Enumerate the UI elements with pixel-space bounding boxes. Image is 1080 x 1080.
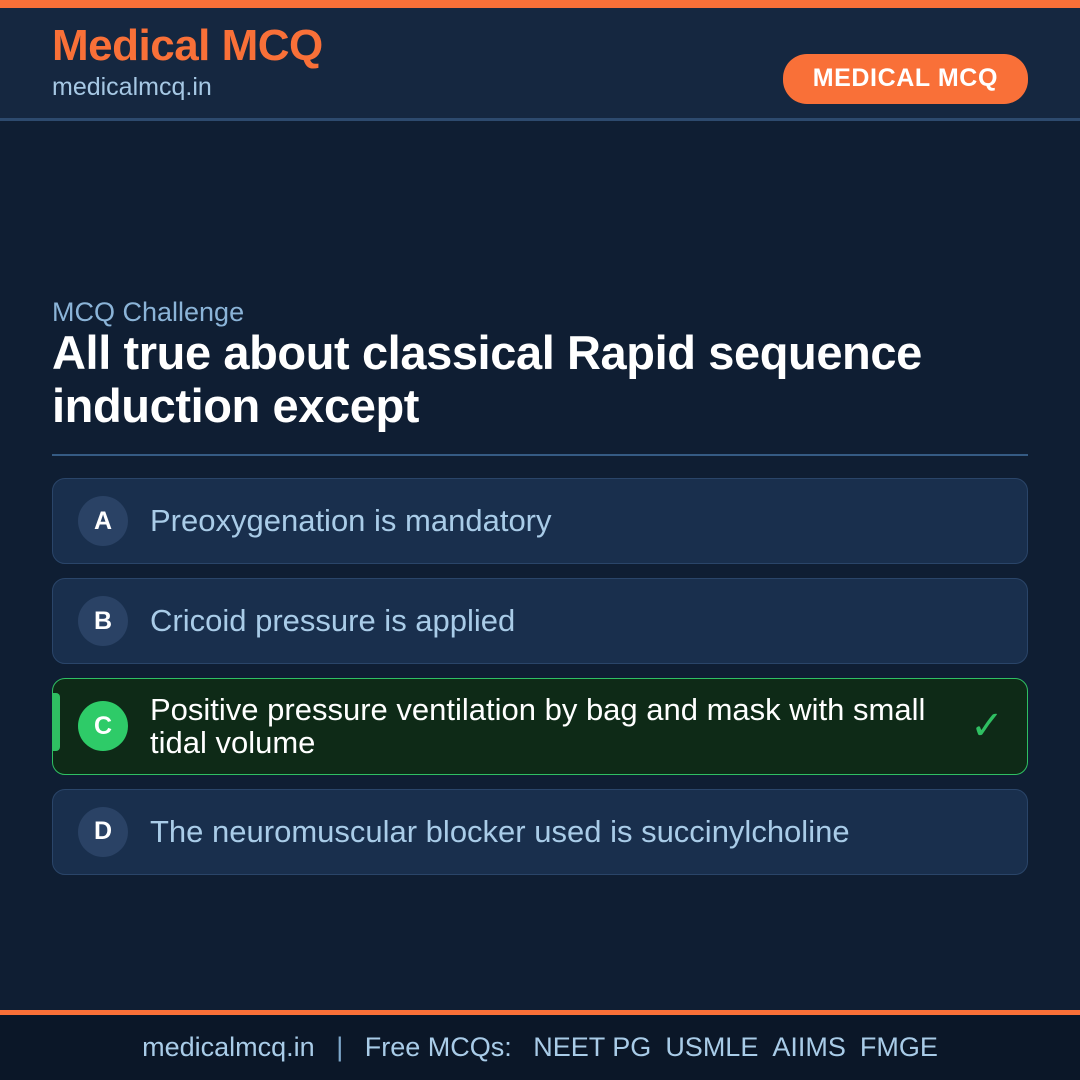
option-text: Cricoid pressure is applied — [150, 590, 965, 651]
option-letter-badge: B — [78, 596, 128, 646]
option-a[interactable]: APreoxygenation is mandatory — [52, 478, 1028, 564]
option-b[interactable]: BCricoid pressure is applied — [52, 578, 1028, 664]
page-footer: medicalmcq.in | Free MCQs: NEET PGUSMLEA… — [0, 1010, 1080, 1080]
top-accent-bar — [0, 0, 1080, 8]
option-text: The neuromuscular blocker used is succin… — [150, 801, 965, 862]
brand-subtitle: medicalmcq.in — [52, 72, 323, 102]
question-text: All true about classical Rapid sequence … — [52, 327, 952, 432]
footer-exams: NEET PGUSMLEAIIMSFMGE — [519, 1032, 938, 1062]
option-c[interactable]: CPositive pressure ventilation by bag an… — [52, 678, 1028, 775]
option-letter-badge: D — [78, 807, 128, 857]
header-badge: MEDICAL MCQ — [783, 54, 1028, 104]
brand-block: Medical MCQ medicalmcq.in — [52, 22, 323, 102]
option-letter-badge: A — [78, 496, 128, 546]
check-icon: ✓ — [965, 706, 1009, 746]
brand-title: Medical MCQ — [52, 22, 323, 70]
option-letter-badge: C — [78, 701, 128, 751]
options-list: APreoxygenation is mandatoryBCricoid pre… — [52, 478, 1028, 889]
page-header: Medical MCQ medicalmcq.in MEDICAL MCQ — [0, 8, 1080, 121]
question-divider — [52, 454, 1028, 456]
footer-exam-item[interactable]: USMLE — [651, 1032, 758, 1062]
footer-site: medicalmcq.in — [142, 1032, 315, 1062]
kicker-label: MCQ Challenge — [52, 297, 244, 328]
footer-separator: | — [322, 1032, 357, 1062]
footer-exam-item[interactable]: NEET PG — [519, 1032, 651, 1062]
option-text: Positive pressure ventilation by bag and… — [150, 679, 965, 774]
footer-exams-label: Free MCQs: — [365, 1032, 512, 1062]
option-text: Preoxygenation is mandatory — [150, 490, 965, 551]
footer-text: medicalmcq.in | Free MCQs: NEET PGUSMLEA… — [142, 1032, 938, 1063]
correct-accent-bar — [53, 693, 60, 751]
footer-exam-item[interactable]: FMGE — [846, 1032, 938, 1062]
main-content: MCQ Challenge All true about classical R… — [0, 124, 1080, 1010]
option-d[interactable]: DThe neuromuscular blocker used is succi… — [52, 789, 1028, 875]
footer-exam-item[interactable]: AIIMS — [758, 1032, 846, 1062]
